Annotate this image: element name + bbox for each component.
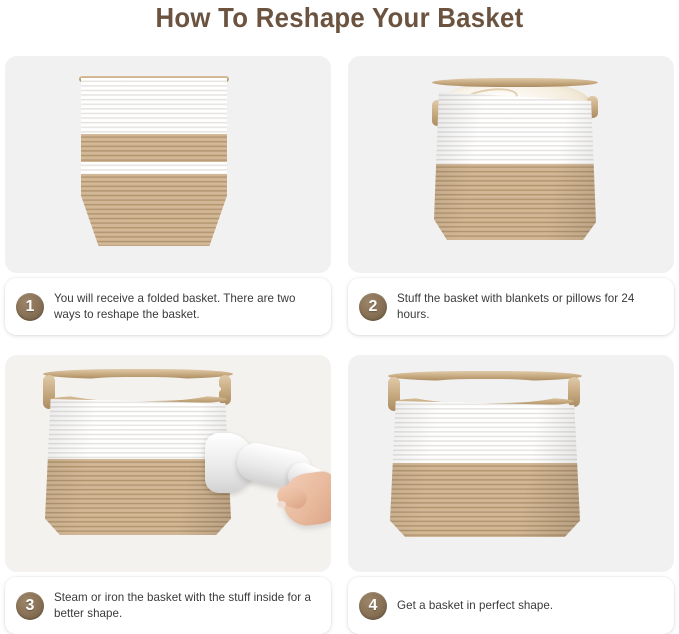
step-image-card-1 [5, 56, 331, 273]
step-image-card-2 [348, 56, 674, 273]
thumbnail [277, 501, 286, 508]
infographic-page: How To Reshape Your Basket 1 You will re… [0, 0, 679, 634]
basket-rim [432, 78, 598, 87]
front-shading [45, 399, 231, 535]
basket-front-face [45, 399, 231, 535]
step-number-badge-3: 3 [16, 592, 44, 620]
rope-band-tan-lower [81, 174, 227, 246]
step-caption-text-2: Stuff the basket with blankets or pillow… [397, 291, 666, 322]
step-number-badge-1: 1 [16, 293, 44, 321]
folded-flat-basket-illustration [5, 56, 331, 273]
step-caption-card-2: 2 Stuff the basket with blankets or pill… [348, 278, 674, 335]
basket-being-steamed-illustration [5, 355, 331, 572]
step-number-badge-4: 4 [359, 592, 387, 620]
basket-interior [402, 379, 568, 403]
step-image-card-4 [348, 355, 674, 572]
step-caption-card-4: 4 Get a basket in perfect shape. [348, 577, 674, 634]
basket-front-face [434, 92, 596, 240]
rope-band-tan-upper [81, 134, 227, 162]
step-caption-text-4: Get a basket in perfect shape. [397, 598, 553, 614]
basket-body [81, 78, 227, 246]
rope-band-white-stripe [81, 162, 227, 174]
basket-interior [57, 377, 221, 401]
front-shading [390, 401, 580, 537]
basket-stuffed-with-blanket-illustration [348, 56, 674, 273]
step-caption-text-3: Steam or iron the basket with the stuff … [54, 590, 323, 621]
finished-basket-illustration [348, 355, 674, 572]
step-panel-3: 3 Steam or iron the basket with the stuf… [5, 355, 331, 634]
steps-grid: 1 You will receive a folded basket. Ther… [5, 56, 674, 634]
step-panel-1: 1 You will receive a folded basket. Ther… [5, 56, 331, 335]
step-caption-text-1: You will receive a folded basket. There … [54, 291, 323, 322]
basket-front-face [390, 401, 580, 537]
step-number-badge-2: 2 [359, 293, 387, 321]
step-image-card-3 [5, 355, 331, 572]
step-panel-2: 2 Stuff the basket with blankets or pill… [348, 56, 674, 335]
front-shading [434, 92, 596, 240]
rope-band-white-top [81, 78, 227, 134]
step-panel-4: 4 Get a basket in perfect shape. [348, 355, 674, 634]
page-title: How To Reshape Your Basket [27, 2, 652, 34]
step-caption-card-1: 1 You will receive a folded basket. Ther… [5, 278, 331, 335]
step-caption-card-3: 3 Steam or iron the basket with the stuf… [5, 577, 331, 634]
